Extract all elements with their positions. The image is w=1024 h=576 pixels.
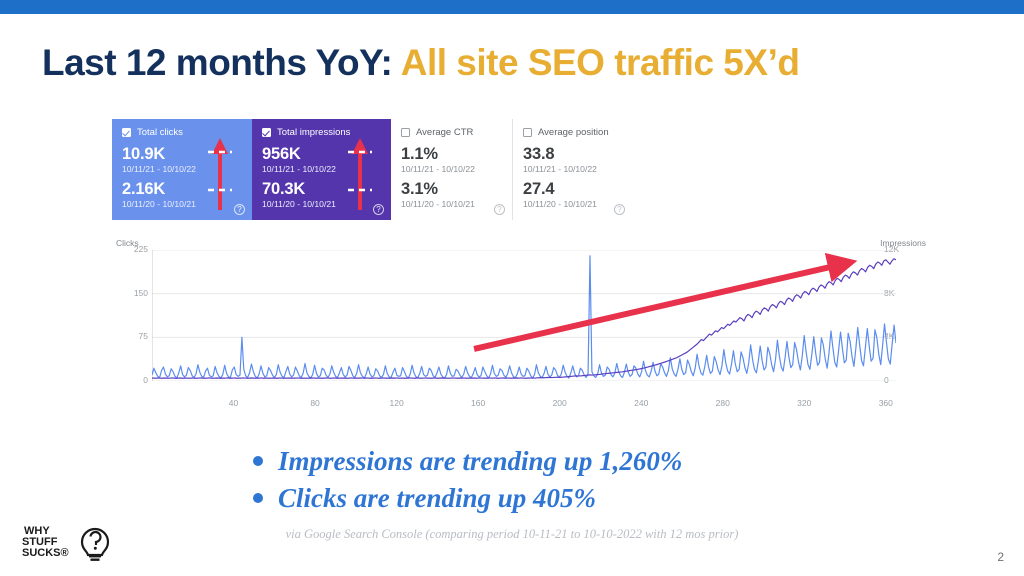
bullet-dot-icon — [253, 456, 263, 466]
metric-cards: Total clicks 10.9K 10/11/21 - 10/10/22 2… — [112, 119, 632, 220]
x-tick: 320 — [797, 398, 811, 408]
metric-card-header: Average position — [523, 128, 622, 138]
metric-current-range: 10/11/21 - 10/10/22 — [262, 164, 381, 175]
checkbox-unchecked-icon[interactable] — [401, 128, 410, 137]
bullet-list: Impressions are trending up 1,260% Click… — [253, 446, 682, 520]
x-tick: 240 — [634, 398, 648, 408]
metric-previous-range: 10/11/20 - 10/10/21 — [122, 199, 242, 210]
metric-current-value: 33.8 — [523, 146, 622, 163]
x-tick: 80 — [310, 398, 319, 408]
metric-current-range: 10/11/21 - 10/10/22 — [122, 164, 242, 175]
metric-card-average-ctr[interactable]: Average CTR 1.1% 10/11/21 - 10/10/22 3.1… — [391, 119, 513, 220]
bullet-text: Clicks are trending up 405% — [278, 483, 596, 514]
metric-card-header: Total clicks — [122, 128, 242, 138]
help-icon[interactable]: ? — [373, 204, 384, 215]
page-title: Last 12 months YoY: All site SEO traffic… — [42, 42, 799, 84]
help-icon[interactable]: ? — [494, 204, 505, 215]
help-icon[interactable]: ? — [614, 204, 625, 215]
page-number: 2 — [997, 550, 1004, 564]
list-item: Clicks are trending up 405% — [253, 483, 682, 514]
y-tick-left: 0 — [104, 375, 148, 385]
bullet-text: Impressions are trending up 1,260% — [278, 446, 682, 477]
top-accent-bar — [0, 0, 1024, 14]
metric-label: Total impressions — [277, 128, 350, 138]
list-item: Impressions are trending up 1,260% — [253, 446, 682, 477]
x-tick: 360 — [879, 398, 893, 408]
metric-label: Average position — [538, 128, 609, 138]
metric-card-header: Total impressions — [262, 128, 381, 138]
metric-current-value: 1.1% — [401, 146, 502, 163]
metric-previous-range: 10/11/20 - 10/10/21 — [401, 199, 502, 210]
metric-previous-value: 2.16K — [122, 181, 242, 198]
checkbox-checked-icon[interactable] — [122, 128, 131, 137]
metric-card-average-position[interactable]: Average position 33.8 10/11/21 - 10/10/2… — [513, 119, 632, 220]
seo-traffic-chart: Clicks Impressions 075150225 04K8K12K 40… — [104, 238, 928, 418]
x-tick: 40 — [229, 398, 238, 408]
lightbulb-question-icon — [82, 529, 108, 561]
metric-current-range: 10/11/21 - 10/10/22 — [401, 164, 502, 175]
metric-current-value: 956K — [262, 146, 381, 163]
page-title-part2: All site SEO traffic 5X’d — [401, 42, 800, 83]
logo-line3: SUCKS® — [22, 547, 69, 559]
metric-current-range: 10/11/21 - 10/10/22 — [523, 164, 622, 175]
source-caption: via Google Search Console (comparing per… — [286, 527, 739, 542]
x-tick: 120 — [390, 398, 404, 408]
metric-previous-value: 27.4 — [523, 181, 622, 198]
metric-previous-value: 70.3K — [262, 181, 381, 198]
bullet-dot-icon — [253, 493, 263, 503]
metric-label: Total clicks — [137, 128, 183, 138]
metric-card-header: Average CTR — [401, 128, 502, 138]
metric-previous-range: 10/11/20 - 10/10/21 — [523, 199, 622, 210]
why-stuff-sucks-logo: WHY STUFF SUCKS® — [22, 516, 117, 564]
x-tick: 280 — [716, 398, 730, 408]
y-tick-left: 225 — [104, 244, 148, 254]
help-icon[interactable]: ? — [234, 204, 245, 215]
metric-current-value: 10.9K — [122, 146, 242, 163]
checkbox-checked-icon[interactable] — [262, 128, 271, 137]
metric-card-total-impressions[interactable]: Total impressions 956K 10/11/21 - 10/10/… — [252, 119, 391, 220]
x-tick: 200 — [553, 398, 567, 408]
metric-card-total-clicks[interactable]: Total clicks 10.9K 10/11/21 - 10/10/22 2… — [112, 119, 252, 220]
chart-plot-area — [152, 250, 896, 381]
checkbox-unchecked-icon[interactable] — [523, 128, 532, 137]
chart-series-clicks — [152, 256, 896, 378]
y-tick-left: 150 — [104, 288, 148, 298]
metric-label: Average CTR — [416, 128, 473, 138]
x-tick: 160 — [471, 398, 485, 408]
page-title-part1: Last 12 months YoY: — [42, 42, 392, 83]
y-tick-left: 75 — [104, 331, 148, 341]
metric-previous-value: 3.1% — [401, 181, 502, 198]
metric-previous-range: 10/11/20 - 10/10/21 — [262, 199, 381, 210]
slide: Last 12 months YoY: All site SEO traffic… — [0, 0, 1024, 576]
